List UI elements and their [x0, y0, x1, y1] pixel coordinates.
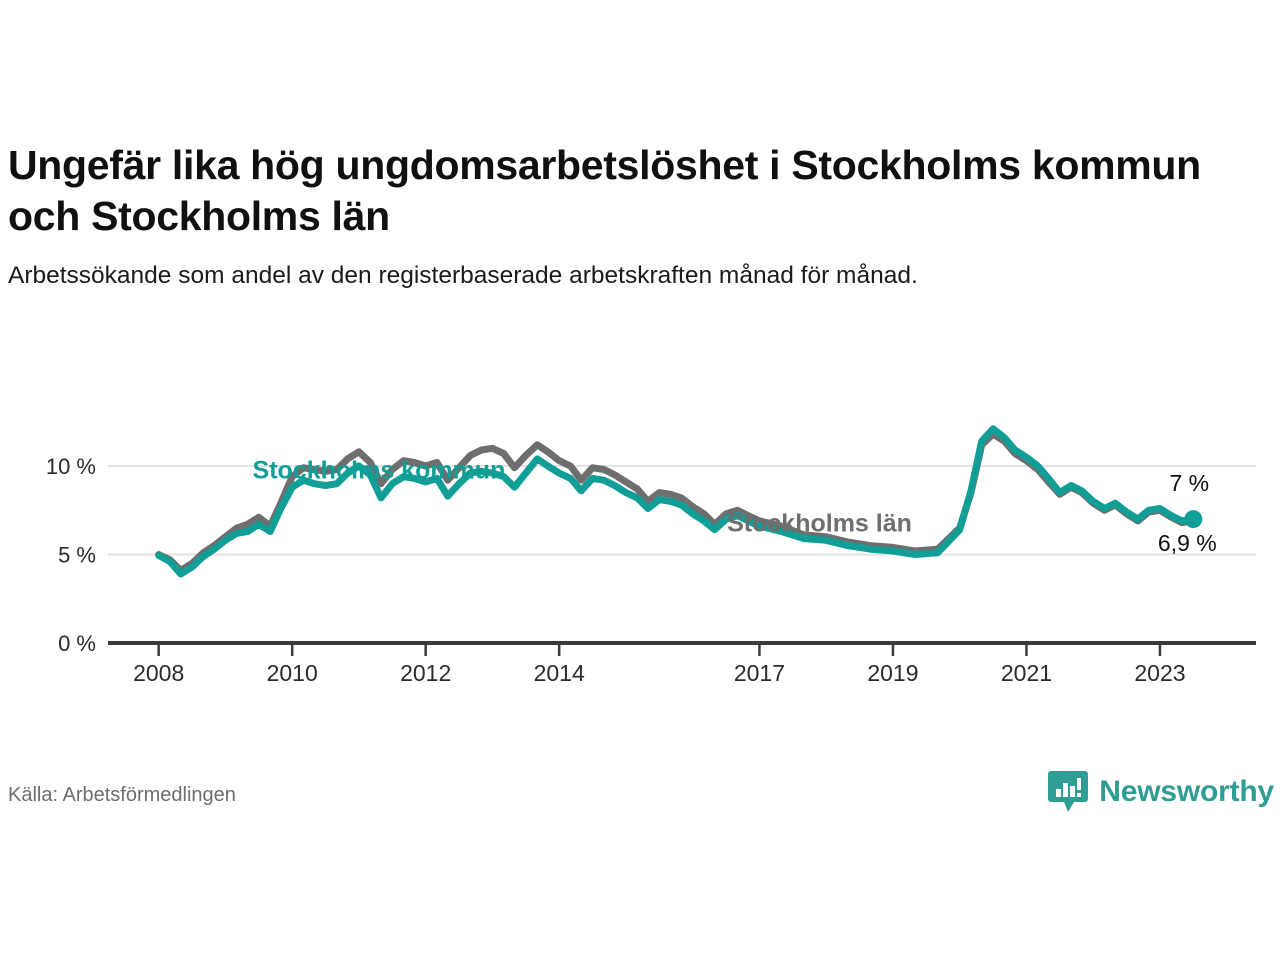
- x-tick-label-2014: 2014: [534, 660, 585, 685]
- line-chart: 0 %5 %10 %200820102012201420172019202120…: [0, 415, 1280, 685]
- kommun-end-value: 7 %: [1170, 470, 1210, 496]
- y-tick-label-0: 0 %: [58, 631, 96, 656]
- chart-container: 0 %5 %10 %200820102012201420172019202120…: [0, 415, 1280, 685]
- source-note: Källa: Arbetsförmedlingen: [8, 784, 236, 807]
- page-subtitle: Arbetssökande som andel av den registerb…: [8, 258, 1188, 293]
- x-tick-label-2021: 2021: [1001, 660, 1052, 685]
- newsworthy-logo: Newsworthy: [1048, 770, 1274, 814]
- y-tick-label-10: 10 %: [46, 454, 96, 479]
- series-line-stockholms-kommun: [159, 429, 1194, 574]
- x-tick-label-2017: 2017: [734, 660, 785, 685]
- x-tick-label-2019: 2019: [867, 660, 918, 685]
- end-point-marker: [1184, 510, 1202, 528]
- chart-page: Ungefär lika hög ungdomsarbetslöshet i S…: [0, 0, 1280, 960]
- brand-name: Newsworthy: [1099, 770, 1274, 814]
- series-label-stockholms-kommun: Stockholms kommun: [253, 456, 506, 484]
- newsworthy-chart-bubble-icon: [1048, 770, 1088, 814]
- page-title: Ungefär lika hög ungdomsarbetslöshet i S…: [8, 140, 1272, 242]
- x-tick-label-2012: 2012: [400, 660, 451, 685]
- x-tick-label-2010: 2010: [267, 660, 318, 685]
- x-tick-label-2023: 2023: [1134, 660, 1185, 685]
- footer: Källa: Arbetsförmedlingen Newsworthy: [0, 770, 1280, 830]
- x-tick-label-2008: 2008: [133, 660, 184, 685]
- header: Ungefär lika hög ungdomsarbetslöshet i S…: [8, 140, 1272, 293]
- lan-end-value: 6,9 %: [1158, 530, 1217, 556]
- series-label-stockholms-lan: Stockholms län: [727, 509, 912, 537]
- y-tick-label-5: 5 %: [58, 543, 96, 568]
